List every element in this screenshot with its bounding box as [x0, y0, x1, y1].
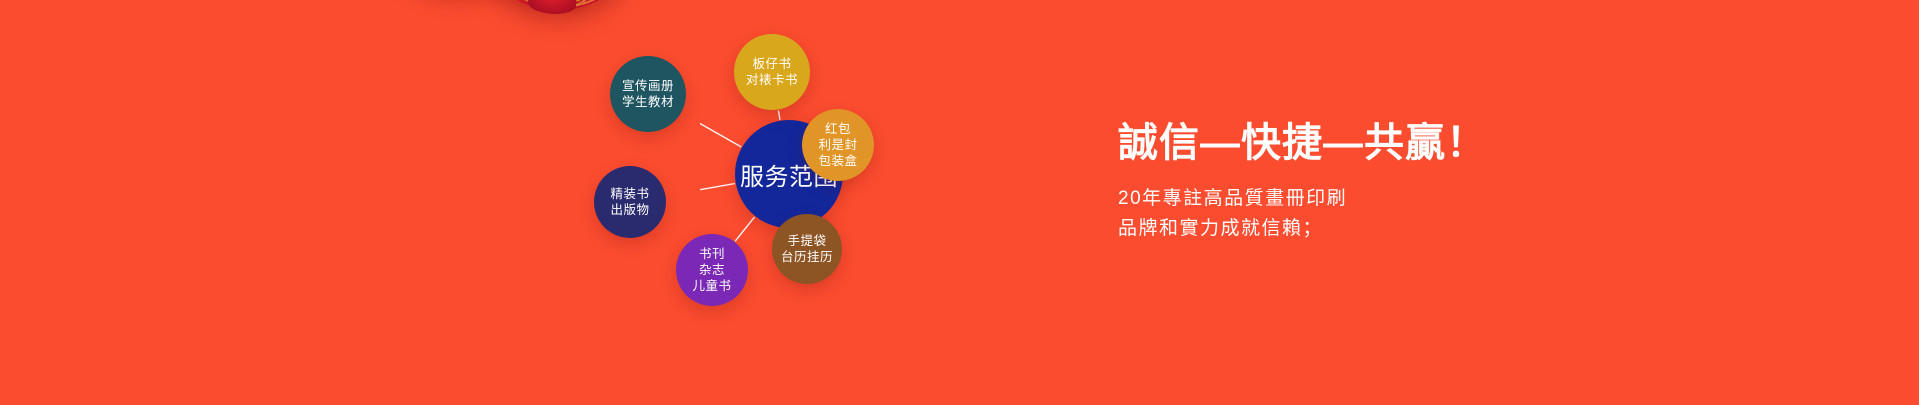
lantern-body	[472, 0, 641, 15]
mindmap-node-label: 红包	[825, 121, 851, 137]
mindmap-node-label: 板仔书	[752, 56, 791, 72]
slogan-subline: 品牌和實力成就信賴；	[1118, 214, 1718, 244]
mindmap-node-handbags-calendars[interactable]: 手提袋台历挂历	[772, 214, 842, 284]
mindmap-node-label: 书刊	[699, 246, 725, 262]
slogan-subline: 20年專註高品質畫冊印刷	[1118, 184, 1718, 214]
slogan-headline: 誠信—快捷—共贏！	[1118, 118, 1718, 168]
mindmap-node-promotional-albums[interactable]: 宣传画册学生教材	[610, 56, 686, 132]
mindmap-node-red-envelopes[interactable]: 红包利是封包装盒	[802, 109, 874, 181]
chinese-lantern-icon	[373, 0, 548, 8]
mindmap-node-hardcover-books[interactable]: 精装书出版物	[594, 166, 666, 238]
mindmap-node-label: 对裱卡书	[746, 72, 798, 88]
slogan-subtext: 20年專註高品質畫冊印刷 品牌和實力成就信賴；	[1118, 184, 1718, 244]
mindmap-node-board-books[interactable]: 板仔书对裱卡书	[734, 34, 810, 110]
mindmap-node-label: 包装盒	[818, 153, 857, 169]
mindmap-node-periodicals[interactable]: 书刊杂志儿童书	[676, 234, 748, 306]
mindmap-node-label: 利是封	[818, 137, 857, 153]
mindmap-node-label: 宣传画册	[622, 78, 674, 94]
mindmap-node-label: 手提袋	[787, 233, 826, 249]
mindmap-node-label: 杂志	[699, 262, 725, 278]
mindmap-node-label: 出版物	[610, 202, 649, 218]
slogan-block: 誠信—快捷—共贏！ 20年專註高品質畫冊印刷 品牌和實力成就信賴；	[1118, 118, 1718, 244]
promo-banner: 服务范围宣传画册学生教材板仔书对裱卡书红包利是封包装盒精装书出版物书刊杂志儿童书…	[0, 0, 1919, 405]
mindmap-node-label: 儿童书	[692, 278, 731, 294]
lantern-arc	[480, 0, 637, 13]
mindmap-connector	[700, 184, 735, 196]
mindmap-connector	[700, 113, 741, 147]
mindmap-node-label: 精装书	[610, 186, 649, 202]
service-scope-mindmap: 服务范围宣传画册学生教材板仔书对裱卡书红包利是封包装盒精装书出版物书刊杂志儿童书…	[700, 10, 1100, 350]
lantern-arc	[498, 0, 619, 14]
lantern-rib	[551, 0, 562, 6]
mindmap-connector	[735, 217, 754, 241]
lantern-rib	[583, 0, 594, 4]
mindmap-node-label: 台历挂历	[781, 249, 833, 265]
lantern-cap	[522, 0, 584, 2]
mindmap-node-label: 学生教材	[622, 94, 674, 110]
mindmap-connector	[778, 110, 780, 119]
chinese-lantern-icon	[471, 0, 641, 27]
